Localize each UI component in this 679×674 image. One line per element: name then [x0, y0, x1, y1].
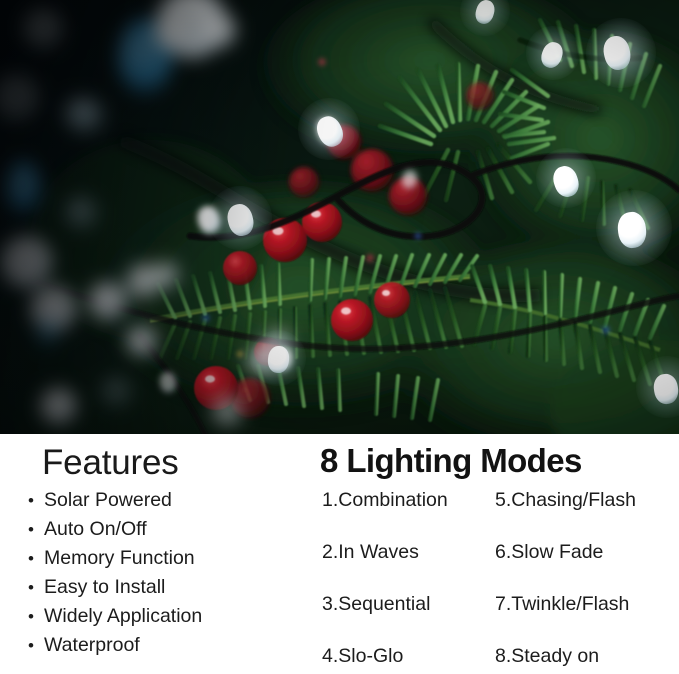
bullet-icon: • [28, 521, 44, 538]
bullet-icon: • [28, 579, 44, 596]
product-photo [0, 0, 679, 434]
mode-item: 3.Sequential [322, 592, 448, 644]
feature-item: • Waterproof [28, 634, 202, 663]
feature-label: Memory Function [44, 547, 195, 570]
mode-item: 6.Slow Fade [495, 540, 636, 592]
bullet-icon: • [28, 608, 44, 625]
product-feature-image: Features • Solar Powered • Auto On/Off •… [0, 0, 679, 674]
feature-item: • Solar Powered [28, 489, 202, 518]
lighting-modes-column: 8 Lighting Modes 1.Combination 2.In Wave… [310, 434, 679, 674]
info-panel: Features • Solar Powered • Auto On/Off •… [0, 434, 679, 674]
feature-label: Solar Powered [44, 489, 172, 512]
mode-item: 8.Steady on [495, 644, 636, 674]
bullet-icon: • [28, 550, 44, 567]
mode-item: 4.Slo-Glo [322, 644, 448, 674]
feature-label: Widely Application [44, 605, 202, 628]
feature-item: • Widely Application [28, 605, 202, 634]
christmas-tree-illustration [0, 0, 679, 434]
features-list: • Solar Powered • Auto On/Off • Memory F… [28, 489, 202, 663]
feature-item: • Easy to Install [28, 576, 202, 605]
feature-item: • Auto On/Off [28, 518, 202, 547]
feature-item: • Memory Function [28, 547, 202, 576]
lighting-modes-subcolumn-left: 1.Combination 2.In Waves 3.Sequential 4.… [322, 488, 448, 674]
lighting-modes-heading: 8 Lighting Modes [320, 442, 582, 480]
feature-label: Waterproof [44, 634, 140, 657]
features-heading: Features [42, 443, 179, 483]
features-column: Features • Solar Powered • Auto On/Off •… [0, 434, 310, 674]
bullet-icon: • [28, 637, 44, 654]
feature-label: Auto On/Off [44, 518, 147, 541]
mode-item: 7.Twinkle/Flash [495, 592, 636, 644]
mode-item: 2.In Waves [322, 540, 448, 592]
mode-item: 1.Combination [322, 488, 448, 540]
feature-label: Easy to Install [44, 576, 165, 599]
lighting-modes-subcolumn-right: 5.Chasing/Flash 6.Slow Fade 7.Twinkle/Fl… [495, 488, 636, 674]
bullet-icon: • [28, 492, 44, 509]
mode-item: 5.Chasing/Flash [495, 488, 636, 540]
